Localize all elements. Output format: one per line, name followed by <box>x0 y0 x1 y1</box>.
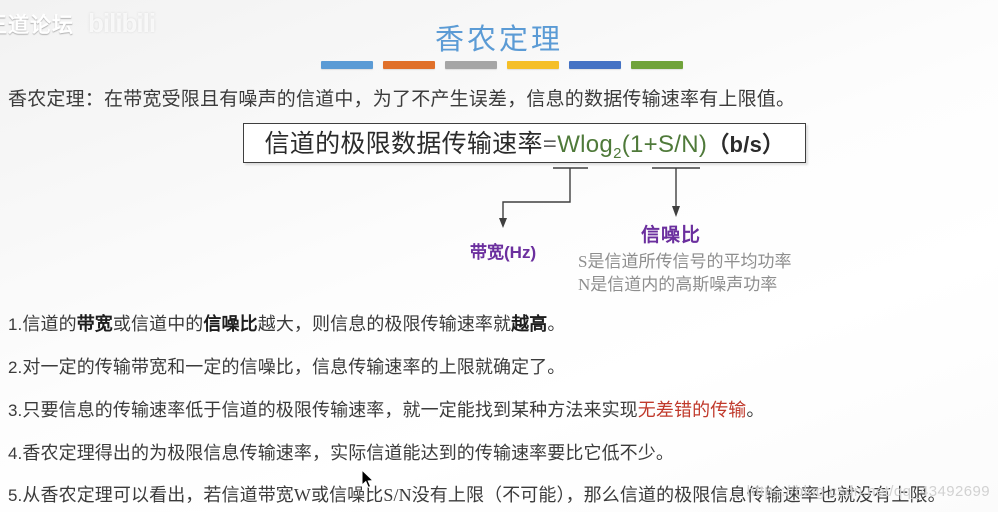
bullet-item-2: 2.对一定的传输带宽和一定的信噪比，信息传输速率的上限就确定了。 <box>8 353 990 379</box>
bandwidth-connector-line <box>503 168 588 220</box>
snr-description: S是信道所传信号的平均功率 N是信道内的高斯噪声功率 <box>578 250 791 297</box>
bullet-item-1: 1.信道的带宽或信道中的信噪比越大，则信息的极限传输速率就越高。 <box>8 310 990 336</box>
intro-paragraph: 香农定理：在带宽受限且有噪声的信道中，为了不产生误差，信息的数据传输速率有上限值… <box>8 84 795 111</box>
bullet-item-4: 4.香农定理得出的为极限信息传输速率，实际信道能达到的传输速率要比它低不少。 <box>8 439 990 465</box>
formula-text: 信道的极限数据传输速率=Wlog2(1+S/N)（b/s） <box>264 124 784 162</box>
bullet-text: 。 <box>746 400 764 420</box>
bullet-emphasis: 带宽 <box>77 314 113 334</box>
formula-unit: （b/s） <box>707 132 784 157</box>
mouse-cursor <box>362 470 376 490</box>
bar-dark-blue <box>569 61 621 69</box>
bullet-number: 1. <box>8 315 22 334</box>
bar-blue <box>321 61 373 69</box>
bullet-number: 5. <box>8 486 22 505</box>
bandwidth-arrow-head <box>499 218 507 228</box>
bullet-emphasis: 信噪比 <box>203 314 257 334</box>
bullet-item-3: 3.只要信息的传输速率低于信道的极限传输速率，就一定能找到某种方法来实现无差错的… <box>8 396 990 422</box>
formula-lead: 信道的极限数据传输速率= <box>264 131 557 158</box>
bullet-text: 对一定的传输带宽和一定的信噪比，信息传输速率的上限就确定了。 <box>22 357 565 377</box>
slide-canvas: 王道论坛 bilibili 香农定理 香农定理：在带宽受限且有噪声的信道中，为了… <box>0 0 998 512</box>
bullet-number: 2. <box>8 358 22 377</box>
formula-expression-prefix: Wlog <box>557 131 613 158</box>
bar-green <box>631 61 683 69</box>
snr-description-line-2: N是信道内的高斯噪声功率 <box>578 273 791 296</box>
callout-bandwidth-label: 带宽(Hz) <box>470 238 536 263</box>
bullet-text: 信道的 <box>22 314 76 334</box>
callout-snr-label: 信噪比 <box>641 220 701 247</box>
formula-box: 信道的极限数据传输速率=Wlog2(1+S/N)（b/s） <box>243 123 806 163</box>
bullet-text: 越大，则信息的极限传输速率就 <box>258 314 511 334</box>
bullet-highlight: 无差错的传输 <box>638 400 747 420</box>
bullet-text: 香农定理得出的为极限信息传输速率，实际信道能达到的传输速率要比它低不少。 <box>22 443 674 463</box>
bullet-list: 1.信道的带宽或信道中的信噪比越大，则信息的极限传输速率就越高。 2.对一定的传… <box>8 310 990 512</box>
snr-arrow-head <box>672 206 680 217</box>
title-accent-bars <box>321 61 683 69</box>
snr-connector-line <box>652 168 700 208</box>
bullet-text: 。 <box>547 314 565 334</box>
blog-watermark: https://blog.csdn.net/qq_43492699 <box>747 483 990 500</box>
bullet-number: 4. <box>8 444 22 463</box>
formula-expression: Wlog2(1+S/N) <box>557 131 707 158</box>
bullet-emphasis: 越高 <box>511 314 547 334</box>
bullet-text: 只要信息的传输速率低于信道的极限传输速率，就一定能找到某种方法来实现 <box>22 400 637 420</box>
bar-gray <box>445 61 497 69</box>
slide-title: 香农定理 <box>0 16 998 58</box>
bar-orange <box>383 61 435 69</box>
snr-description-line-1: S是信道所传信号的平均功率 <box>578 250 791 273</box>
bullet-text: 或信道中的 <box>113 314 204 334</box>
bullet-number: 3. <box>8 401 22 420</box>
formula-expression-suffix: (1+S/N) <box>622 131 707 158</box>
bar-yellow <box>507 61 559 69</box>
formula-expression-sub: 2 <box>613 145 622 162</box>
